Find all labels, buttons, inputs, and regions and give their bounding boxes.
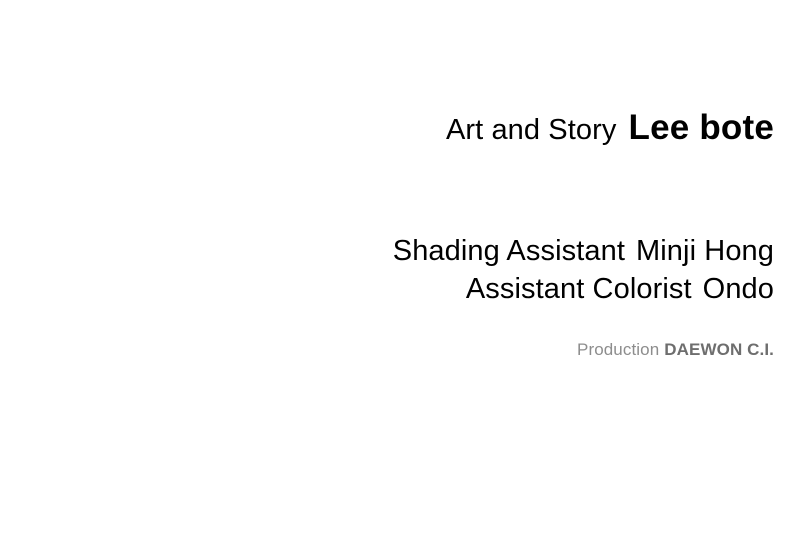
credit-name-lee-bote: Lee bote <box>628 108 774 147</box>
credit-name-minji-hong: Minji Hong <box>636 235 774 267</box>
credits-panel: Art and StoryLee bote Shading AssistantM… <box>0 0 774 540</box>
credit-line-assistant-colorist: Assistant ColoristOndo <box>0 270 774 308</box>
credit-line-art-and-story: Art and StoryLee bote <box>0 110 774 145</box>
credit-role-shading-assistant: Shading Assistant <box>393 235 625 267</box>
credit-role-art-and-story: Art and Story <box>446 114 617 146</box>
credit-line-shading-assistant: Shading AssistantMinji Hong <box>0 232 774 270</box>
credit-block-staff: Shading AssistantMinji Hong Assistant Co… <box>0 232 774 308</box>
credit-line-production: ProductionDAEWON C.I. <box>0 341 774 359</box>
credit-role-production: Production <box>577 340 659 359</box>
credit-name-ondo: Ondo <box>703 273 774 305</box>
credit-role-assistant-colorist: Assistant Colorist <box>466 273 692 305</box>
credit-studio-daewon-ci: DAEWON C.I. <box>664 340 774 359</box>
